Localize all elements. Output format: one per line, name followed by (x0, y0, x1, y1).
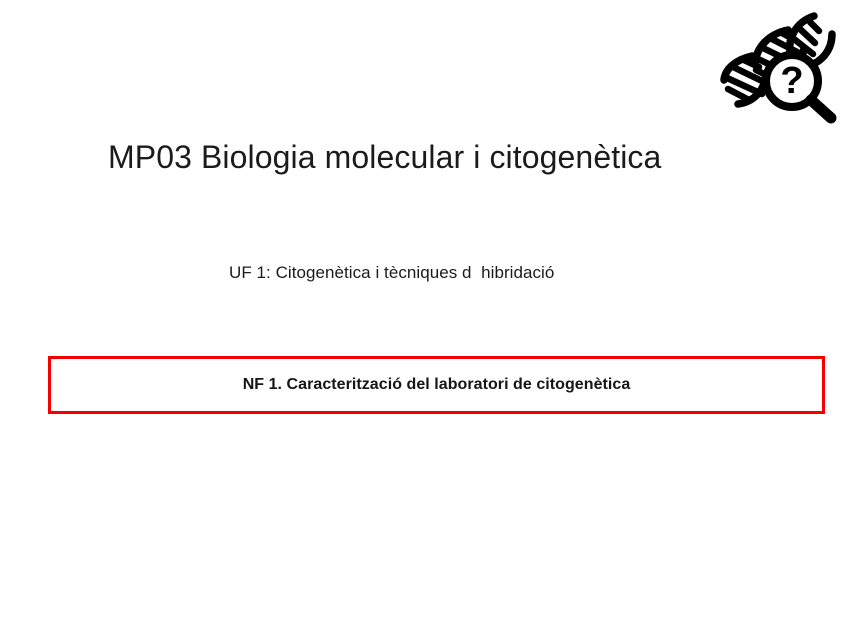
presentation-slide: ? MP03 Biologia molecular i citogenètica… (0, 0, 848, 636)
slide-subtitle: UF 1: Citogenètica i tècniques d hibrida… (229, 260, 554, 285)
highlight-box: NF 1. Caracterització del laboratori de … (48, 356, 825, 414)
dna-magnifier-question-icon: ? (718, 8, 840, 124)
highlight-box-label: NF 1. Caracterització del laboratori de … (243, 374, 631, 396)
page-title: MP03 Biologia molecular i citogenètica (108, 136, 661, 178)
question-mark-glyph: ? (780, 60, 803, 102)
